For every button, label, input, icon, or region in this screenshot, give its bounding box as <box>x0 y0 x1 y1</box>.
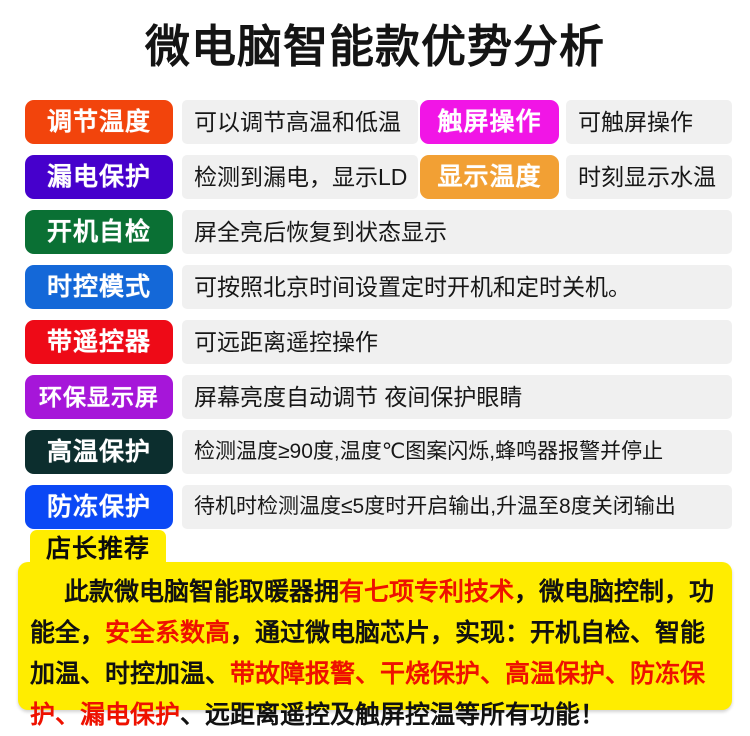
feature-badge: 带遥控器 <box>25 320 173 364</box>
feature-badge: 高温保护 <box>25 430 173 474</box>
feature-badge-cell: 开机自检 <box>25 210 173 254</box>
promo-text: 、远距离遥控及触屏控温等所有功能！ <box>180 701 605 729</box>
feature-badge-cell: 调节温度 <box>25 100 173 144</box>
feature-badge-cell: 环保显示屏 <box>25 375 173 419</box>
feature-desc: 屏幕亮度自动调节 夜间保护眼睛 <box>182 375 732 419</box>
feature-badge: 防冻保护 <box>25 485 173 529</box>
recommendation-panel: 此款微电脑智能取暖器拥有七项专利技术，微电脑控制，功能全，安全系数高，通过微电脑… <box>18 562 732 710</box>
feature-row: 高温保护检测温度≥90度,温度℃图案闪烁,蜂鸣器报警并停止 <box>0 430 750 474</box>
feature-desc-cell: 待机时检测温度≤5度时开启输出,升温至8度关闭输出 <box>182 485 732 529</box>
feature-badge-cell: 触屏操作 <box>420 100 559 144</box>
feature-badge-cell: 防冻保护 <box>25 485 173 529</box>
feature-desc: 屏全亮后恢复到状态显示 <box>182 210 732 254</box>
feature-badge: 触屏操作 <box>420 100 559 144</box>
feature-desc-cell: 可按照北京时间设置定时开机和定时关机。 <box>182 265 732 309</box>
feature-badge-cell: 漏电保护 <box>25 155 173 199</box>
feature-desc: 可触屏操作 <box>566 100 732 144</box>
feature-row: 带遥控器可远距离遥控操作 <box>0 320 750 364</box>
feature-badge: 开机自检 <box>25 210 173 254</box>
feature-badge: 调节温度 <box>25 100 173 144</box>
feature-row: 漏电保护检测到漏电，显示LD显示温度时刻显示水温 <box>0 155 750 199</box>
feature-desc: 时刻显示水温 <box>566 155 732 199</box>
feature-row: 环保显示屏屏幕亮度自动调节 夜间保护眼睛 <box>0 375 750 419</box>
feature-badge: 显示温度 <box>420 155 559 199</box>
promo-highlight-text: 有七项专利技术 <box>339 578 514 606</box>
feature-row: 防冻保护待机时检测温度≤5度时开启输出,升温至8度关闭输出 <box>0 485 750 529</box>
feature-desc-cell: 屏全亮后恢复到状态显示 <box>182 210 732 254</box>
feature-row: 调节温度可以调节高温和低温触屏操作可触屏操作 <box>0 100 750 144</box>
feature-list: 调节温度可以调节高温和低温触屏操作可触屏操作漏电保护检测到漏电，显示LD显示温度… <box>0 100 750 540</box>
feature-desc: 可远距离遥控操作 <box>182 320 732 364</box>
promo-text: 此款微电脑智能取暖器拥 <box>64 578 339 606</box>
feature-desc-cell: 可触屏操作 <box>566 100 732 144</box>
feature-desc: 检测到漏电，显示LD <box>182 155 418 199</box>
feature-desc: 可以调节高温和低温 <box>182 100 418 144</box>
feature-desc-cell: 检测温度≥90度,温度℃图案闪烁,蜂鸣器报警并停止 <box>182 430 732 474</box>
infographic-page: 微电脑智能款优势分析 调节温度可以调节高温和低温触屏操作可触屏操作漏电保护检测到… <box>0 0 750 721</box>
promo-highlight-text: 安全系数高 <box>105 619 230 647</box>
feature-row: 时控模式可按照北京时间设置定时开机和定时关机。 <box>0 265 750 309</box>
feature-badge-cell: 带遥控器 <box>25 320 173 364</box>
feature-badge-cell: 时控模式 <box>25 265 173 309</box>
feature-desc: 待机时检测温度≤5度时开启输出,升温至8度关闭输出 <box>182 485 732 529</box>
feature-row: 开机自检屏全亮后恢复到状态显示 <box>0 210 750 254</box>
feature-badge-cell: 高温保护 <box>25 430 173 474</box>
feature-desc-cell: 可以调节高温和低温 <box>182 100 418 144</box>
feature-badge-cell: 显示温度 <box>420 155 559 199</box>
feature-desc-cell: 检测到漏电，显示LD <box>182 155 418 199</box>
feature-desc-cell: 可远距离遥控操作 <box>182 320 732 364</box>
feature-badge: 环保显示屏 <box>25 375 173 419</box>
recommendation-paragraph: 此款微电脑智能取暖器拥有七项专利技术，微电脑控制，功能全，安全系数高，通过微电脑… <box>30 572 720 736</box>
feature-desc-cell: 时刻显示水温 <box>566 155 732 199</box>
feature-desc: 可按照北京时间设置定时开机和定时关机。 <box>182 265 732 309</box>
feature-desc: 检测温度≥90度,温度℃图案闪烁,蜂鸣器报警并停止 <box>182 430 732 474</box>
feature-badge: 时控模式 <box>25 265 173 309</box>
page-title: 微电脑智能款优势分析 <box>0 18 750 76</box>
recommendation-tab: 店长推荐 <box>30 530 166 570</box>
feature-desc-cell: 屏幕亮度自动调节 夜间保护眼睛 <box>182 375 732 419</box>
feature-badge: 漏电保护 <box>25 155 173 199</box>
